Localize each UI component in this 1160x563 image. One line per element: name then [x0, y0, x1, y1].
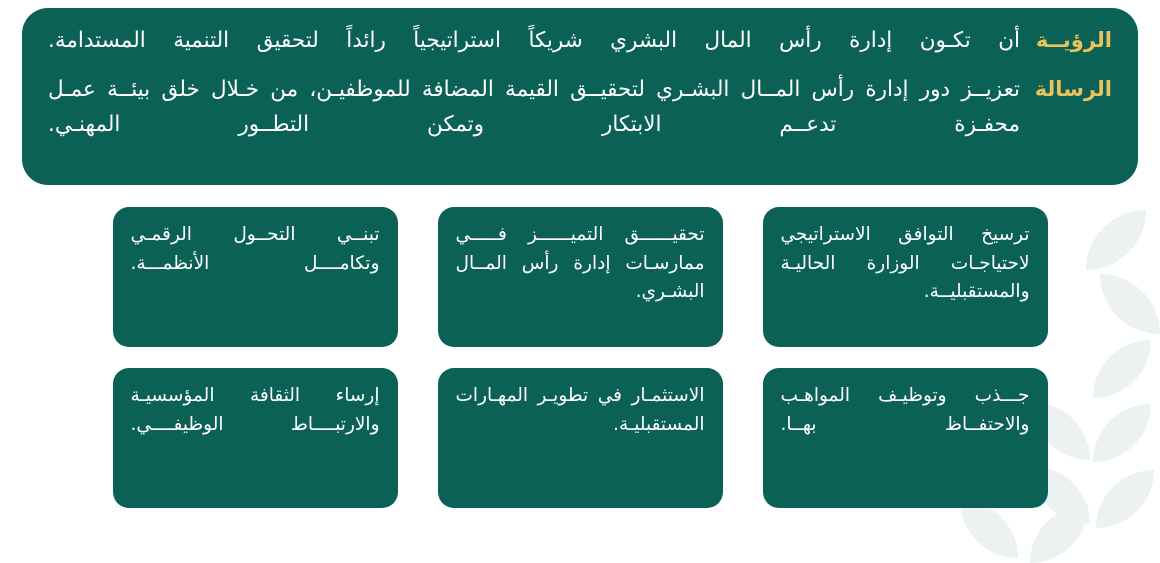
objective-card-talent-attraction-retention[interactable]: جـــذب وتوظيـف المواهـب والاحتفــاظ بهــ…	[763, 368, 1048, 508]
mission-label: الرسالة	[1034, 73, 1112, 106]
objective-card-future-skills-investment[interactable]: الاستثمـار في تطويـر المهـارات المستقبلي…	[438, 368, 723, 508]
page-root: الرؤيــة أن تكـون إدارة رأس المال البشري…	[0, 0, 1160, 531]
objective-card-text: تبنــي التحــول الرقمـي وتكامــــل الأنظ…	[131, 224, 380, 274]
objective-card-text: ترسيخ التوافق الاستراتيجي لاحتياجـات الو…	[781, 224, 1030, 302]
mission-row: الرسالة تعزيــز دور إدارة رأس المــال ال…	[48, 73, 1112, 143]
vision-label: الرؤيــة	[1034, 24, 1112, 57]
objective-card-excellence-in-hr-practices[interactable]: تحقيــــــق التميــــــز فـــــي ممارسـا…	[438, 207, 723, 347]
objective-card-text: إرساء الثقافة المؤسسيـة والارتبــــاط ال…	[131, 385, 380, 435]
objective-card-culture-and-engagement[interactable]: إرساء الثقافة المؤسسيـة والارتبــــاط ال…	[113, 368, 398, 508]
vision-text: أن تكـون إدارة رأس المال البشري شريكاً ا…	[48, 24, 1020, 59]
mission-text: تعزيــز دور إدارة رأس المــال البشـري لت…	[48, 73, 1020, 143]
objective-card-text: جـــذب وتوظيـف المواهـب والاحتفــاظ بهــ…	[781, 385, 1030, 435]
vision-mission-banner: الرؤيــة أن تكـون إدارة رأس المال البشري…	[22, 8, 1138, 185]
objective-card-digital-transformation[interactable]: تبنــي التحــول الرقمـي وتكامــــل الأنظ…	[113, 207, 398, 347]
objectives-grid: ترسيخ التوافق الاستراتيجي لاحتياجـات الو…	[22, 207, 1138, 508]
objective-card-text: تحقيــــــق التميــــــز فـــــي ممارسـا…	[456, 224, 705, 302]
objective-card-strategic-alignment[interactable]: ترسيخ التوافق الاستراتيجي لاحتياجـات الو…	[763, 207, 1048, 347]
objective-card-text: الاستثمـار في تطويـر المهـارات المستقبلي…	[456, 385, 705, 435]
vision-row: الرؤيــة أن تكـون إدارة رأس المال البشري…	[48, 24, 1112, 59]
